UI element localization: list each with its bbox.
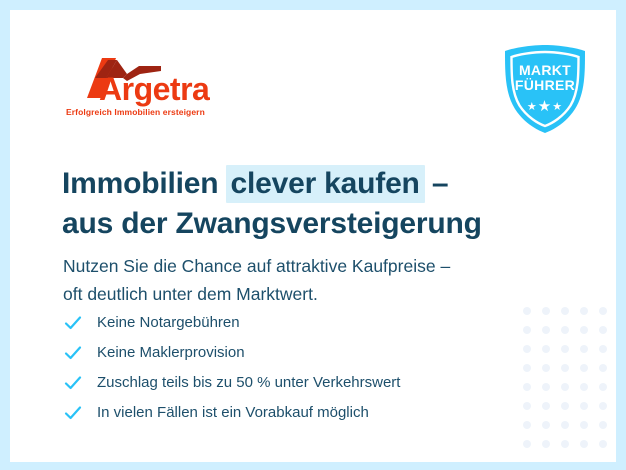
dot	[561, 307, 569, 315]
dot	[599, 402, 607, 410]
dot	[561, 402, 569, 410]
dot-grid-decoration	[523, 307, 616, 462]
headline-highlight: clever kaufen	[226, 165, 425, 203]
dot	[580, 421, 588, 429]
dot	[542, 383, 550, 391]
dot	[542, 402, 550, 410]
dot	[542, 364, 550, 372]
list-item: Keine Notargebühren	[63, 308, 493, 338]
dot	[542, 421, 550, 429]
banner-content-area: Argetra Erfolgreich Immobilien ersteiger…	[10, 10, 616, 462]
dot	[561, 421, 569, 429]
headline-line1-before: Immobilien	[62, 167, 227, 200]
market-leader-badge: MARKT FÜHRER ★★★	[497, 43, 593, 135]
subtitle-line2: oft deutlich unter dem Marktwert.	[63, 280, 533, 308]
logo-tagline: Erfolgreich Immobilien ersteigern	[66, 107, 205, 117]
headline-line1-after: –	[424, 167, 449, 200]
dot	[542, 326, 550, 334]
dot	[523, 345, 531, 353]
dot	[523, 421, 531, 429]
dot	[599, 345, 607, 353]
benefit-label: Keine Maklerprovision	[97, 343, 245, 363]
page-title: Immobilien clever kaufen – aus der Zwang…	[62, 166, 532, 242]
dot	[599, 440, 607, 448]
dot	[599, 364, 607, 372]
list-item: Keine Maklerprovision	[63, 338, 493, 368]
promo-banner: Argetra Erfolgreich Immobilien ersteiger…	[0, 0, 626, 470]
list-item: Zuschlag teils bis zu 50 % unter Verkehr…	[63, 368, 493, 398]
shield-icon	[497, 43, 593, 135]
dot	[580, 364, 588, 372]
logo-wordmark: Argetra	[99, 73, 209, 105]
benefit-label: In vielen Fällen ist ein Vorabkauf mögli…	[97, 403, 369, 423]
benefit-label: Keine Notargebühren	[97, 313, 240, 333]
check-icon	[63, 343, 83, 363]
subtitle-line1: Nutzen Sie die Chance auf attraktive Kau…	[63, 252, 533, 280]
dot	[542, 307, 550, 315]
check-icon	[63, 373, 83, 393]
dot	[561, 383, 569, 391]
dot	[580, 383, 588, 391]
subtitle: Nutzen Sie die Chance auf attraktive Kau…	[63, 252, 533, 308]
dot	[599, 307, 607, 315]
check-icon	[63, 403, 83, 423]
dot	[523, 440, 531, 448]
dot	[561, 440, 569, 448]
dot	[580, 326, 588, 334]
dot	[580, 440, 588, 448]
dot	[542, 345, 550, 353]
dot	[561, 326, 569, 334]
dot	[599, 421, 607, 429]
dot	[523, 383, 531, 391]
benefit-label: Zuschlag teils bis zu 50 % unter Verkehr…	[97, 373, 400, 393]
argetra-logo: Argetra Erfolgreich Immobilien ersteiger…	[65, 54, 215, 116]
dot	[542, 440, 550, 448]
headline-line2: aus der Zwangsversteigerung	[62, 206, 532, 242]
dot	[523, 307, 531, 315]
dot	[580, 345, 588, 353]
check-icon	[63, 313, 83, 333]
dot	[561, 345, 569, 353]
dot	[599, 383, 607, 391]
list-item: In vielen Fällen ist ein Vorabkauf mögli…	[63, 398, 493, 428]
dot	[523, 364, 531, 372]
dot	[580, 307, 588, 315]
dot	[523, 402, 531, 410]
dot	[561, 364, 569, 372]
dot	[599, 326, 607, 334]
dot	[523, 326, 531, 334]
dot	[580, 402, 588, 410]
benefit-list: Keine NotargebührenKeine Maklerprovision…	[63, 308, 493, 428]
